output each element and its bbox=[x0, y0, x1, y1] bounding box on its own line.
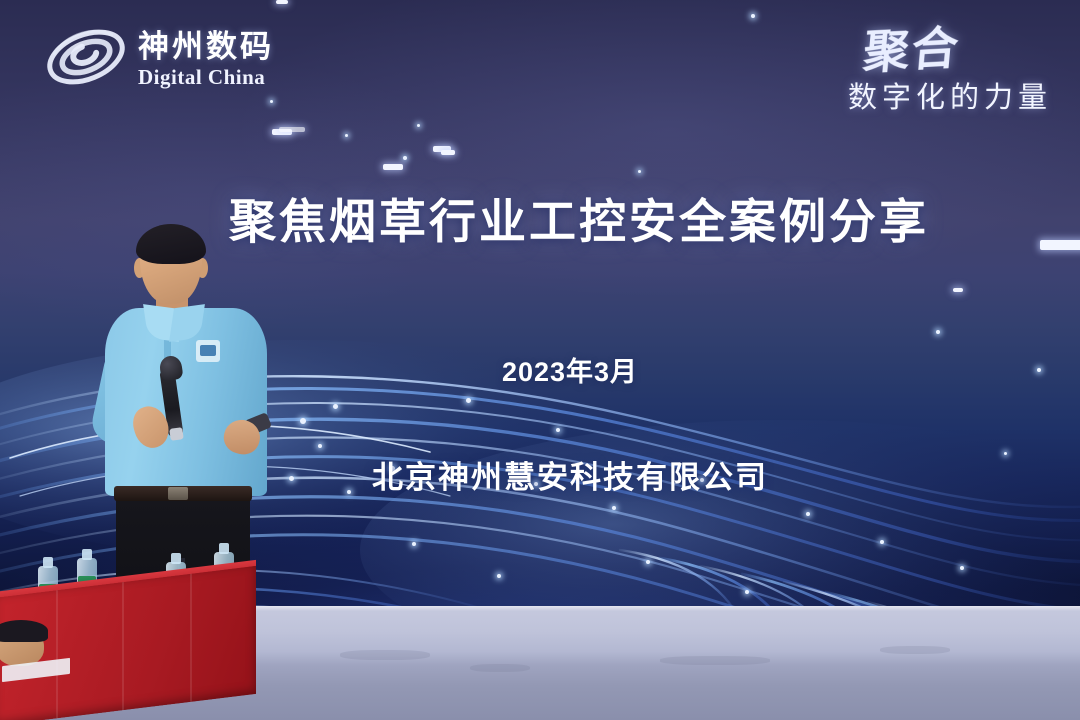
presenter-hair bbox=[136, 224, 206, 264]
stage-scene: 神州数码 Digital China 聚合 数字化的力量 聚焦烟草行业工控安全案… bbox=[0, 0, 1080, 720]
particle bbox=[403, 156, 407, 160]
particle bbox=[417, 124, 420, 127]
light-streak bbox=[279, 127, 305, 132]
particle bbox=[270, 100, 273, 103]
particle bbox=[556, 428, 560, 432]
seated-attendee-hair bbox=[0, 620, 48, 642]
brand-name-cn: 神州数码 bbox=[138, 31, 274, 62]
particle bbox=[612, 506, 616, 510]
particle bbox=[466, 398, 471, 403]
digital-china-swirl-icon bbox=[44, 22, 128, 97]
particle bbox=[412, 542, 416, 546]
particle bbox=[960, 566, 964, 570]
particle bbox=[936, 330, 940, 334]
brand-name-en: Digital China bbox=[138, 67, 274, 88]
particle bbox=[300, 418, 306, 424]
light-streak bbox=[276, 0, 288, 4]
event-logo: 聚合 数字化的力量 bbox=[848, 14, 1052, 116]
belt-buckle bbox=[168, 487, 188, 500]
particle bbox=[345, 134, 348, 137]
light-streak bbox=[953, 288, 963, 292]
microphone-base bbox=[169, 427, 184, 441]
particle bbox=[646, 560, 650, 564]
particle bbox=[745, 590, 749, 594]
particle bbox=[806, 512, 810, 516]
event-calligraphy: 聚合 bbox=[861, 12, 963, 83]
light-streak bbox=[383, 164, 403, 170]
particle bbox=[880, 540, 884, 544]
particle bbox=[497, 574, 501, 578]
particle bbox=[318, 444, 322, 448]
particle bbox=[333, 404, 338, 409]
particle bbox=[638, 170, 641, 173]
digital-china-logo: 神州数码 Digital China bbox=[44, 22, 274, 97]
particle bbox=[751, 14, 755, 18]
light-streak bbox=[441, 150, 455, 155]
shirt-chest-logo-icon bbox=[196, 340, 220, 362]
